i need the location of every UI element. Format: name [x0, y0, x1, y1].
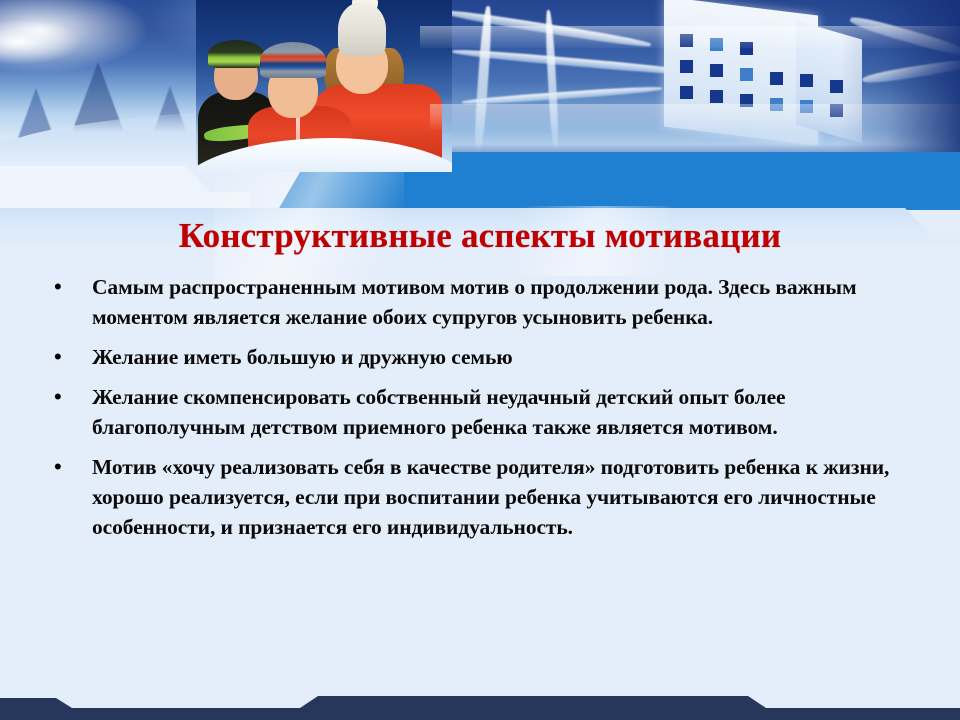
footer-shape-left: [0, 696, 300, 720]
bullet-icon: •: [40, 342, 92, 371]
accent-notch-left: [0, 166, 250, 214]
child-right-hat: [338, 2, 386, 56]
snowy-branch: [462, 85, 662, 106]
list-item-text: Желание иметь большую и дружную семью: [92, 342, 920, 372]
child-left-hat: [208, 40, 264, 68]
list-item: • Самым распространенным мотивом мотив о…: [40, 272, 920, 332]
bullet-list: • Самым распространенным мотивом мотив о…: [40, 272, 920, 552]
list-item-text: Мотив «хочу реализовать себя в качестве …: [92, 452, 920, 542]
footer-shape-center: [288, 696, 748, 720]
presentation-slide: Конструктивные аспекты мотивации • Самым…: [0, 0, 960, 720]
children-in-snow-image: [196, 0, 452, 172]
list-item: • Мотив «хочу реализовать себя в качеств…: [40, 452, 920, 542]
bullet-icon: •: [40, 382, 92, 411]
footer-decoration: [0, 696, 960, 720]
bullet-icon: •: [40, 272, 92, 301]
list-item-text: Желание скомпенсировать собственный неуд…: [92, 382, 920, 442]
list-item-text: Самым распространенным мотивом мотив о п…: [92, 272, 920, 332]
footer-shape-right: [730, 696, 960, 720]
bullet-icon: •: [40, 452, 92, 481]
header-photo-banner: [0, 0, 960, 172]
child-center-hat: [260, 42, 326, 78]
page-title: Конструктивные аспекты мотивации: [0, 216, 960, 256]
list-item: • Желание иметь большую и дружную семью: [40, 342, 920, 372]
list-item: • Желание скомпенсировать собственный не…: [40, 382, 920, 442]
